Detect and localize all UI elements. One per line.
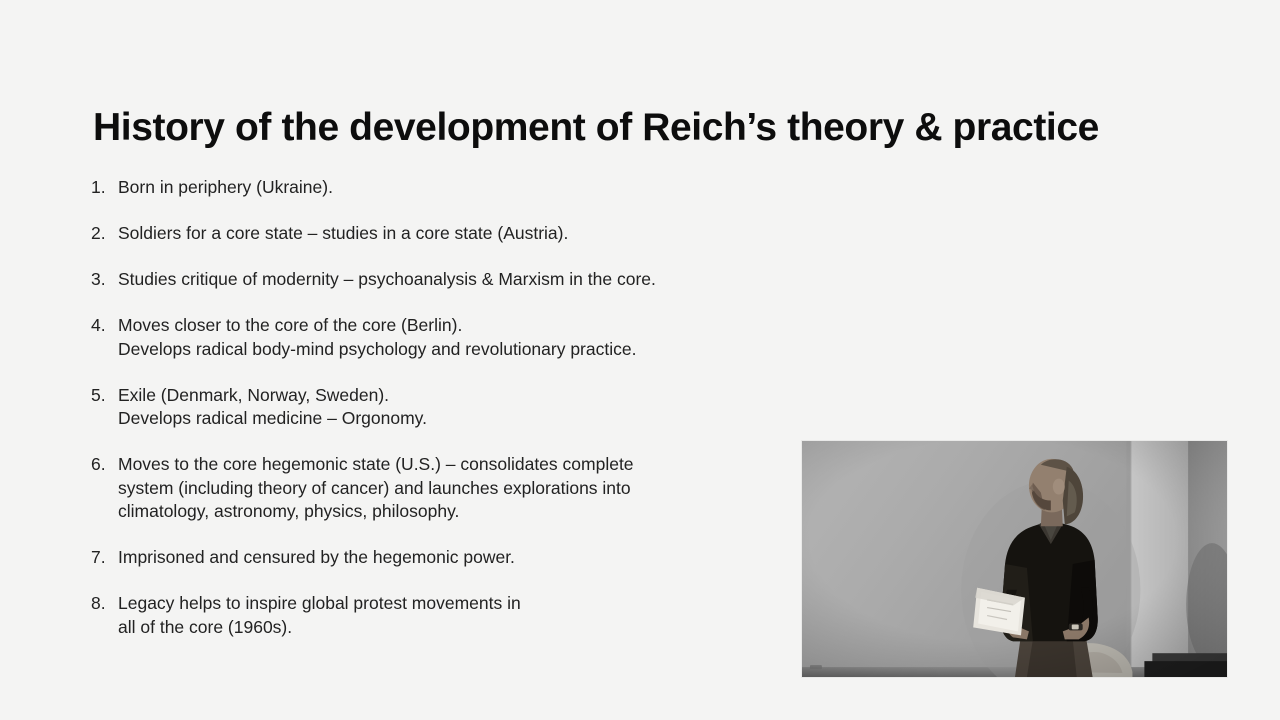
list-item-text: Born in periphery (Ukraine). <box>118 176 748 200</box>
speaker-video-thumbnail[interactable] <box>801 440 1228 678</box>
list-item-number: 8. <box>88 592 118 616</box>
list-item-text: Legacy helps to inspire global protest m… <box>118 592 748 639</box>
list-item-text: Moves closer to the core of the core (Be… <box>118 314 748 361</box>
list-item: 6. Moves to the core hegemonic state (U.… <box>88 453 748 524</box>
list-item: 4. Moves closer to the core of the core … <box>88 314 748 361</box>
numbered-content-list: 1. Born in periphery (Ukraine). 2. Soldi… <box>88 176 748 639</box>
list-item: 7. Imprisoned and censured by the hegemo… <box>88 546 748 570</box>
list-item-line: Moves to the core hegemonic state (U.S.)… <box>118 453 748 477</box>
video-still-image <box>802 441 1227 677</box>
list-item-number: 4. <box>88 314 118 338</box>
list-item-number: 3. <box>88 268 118 292</box>
list-item-number: 6. <box>88 453 118 477</box>
page-title: History of the development of Reich’s th… <box>93 106 1203 151</box>
list-item-number: 2. <box>88 222 118 246</box>
list-item: 3. Studies critique of modernity – psych… <box>88 268 748 292</box>
list-item: 5. Exile (Denmark, Norway, Sweden). Deve… <box>88 384 748 431</box>
list-item: 2. Soldiers for a core state – studies i… <box>88 222 748 246</box>
list-item: 8. Legacy helps to inspire global protes… <box>88 592 748 639</box>
list-item-number: 1. <box>88 176 118 200</box>
list-item-text: Soldiers for a core state – studies in a… <box>118 222 748 246</box>
list-item-text: Exile (Denmark, Norway, Sweden). Develop… <box>118 384 748 431</box>
presentation-slide: History of the development of Reich’s th… <box>0 0 1280 720</box>
list-item-text: Moves to the core hegemonic state (U.S.)… <box>118 453 748 524</box>
list-item-number: 5. <box>88 384 118 408</box>
list-item-line: Imprisoned and censured by the hegemonic… <box>118 546 748 570</box>
list-item: 1. Born in periphery (Ukraine). <box>88 176 748 200</box>
list-item-line: Moves closer to the core of the core (Be… <box>118 314 748 338</box>
list-item-line: Develops radical medicine – Orgonomy. <box>118 407 748 431</box>
list-item-line: Legacy helps to inspire global protest m… <box>118 592 748 616</box>
video-frame <box>802 441 1227 677</box>
list-item-text: Imprisoned and censured by the hegemonic… <box>118 546 748 570</box>
list-item-number: 7. <box>88 546 118 570</box>
list-item-line: system (including theory of cancer) and … <box>118 477 748 501</box>
list-item-line: Soldiers for a core state – studies in a… <box>118 222 748 246</box>
list-item-text: Studies critique of modernity – psychoan… <box>118 268 748 292</box>
list-item-line: all of the core (1960s). <box>118 616 748 640</box>
list-item-line: Exile (Denmark, Norway, Sweden). <box>118 384 748 408</box>
list-item-line: Born in periphery (Ukraine). <box>118 176 748 200</box>
list-item-line: climatology, astronomy, physics, philoso… <box>118 500 748 524</box>
list-item-line: Studies critique of modernity – psychoan… <box>118 268 748 292</box>
list-item-line: Develops radical body-mind psychology an… <box>118 338 748 362</box>
